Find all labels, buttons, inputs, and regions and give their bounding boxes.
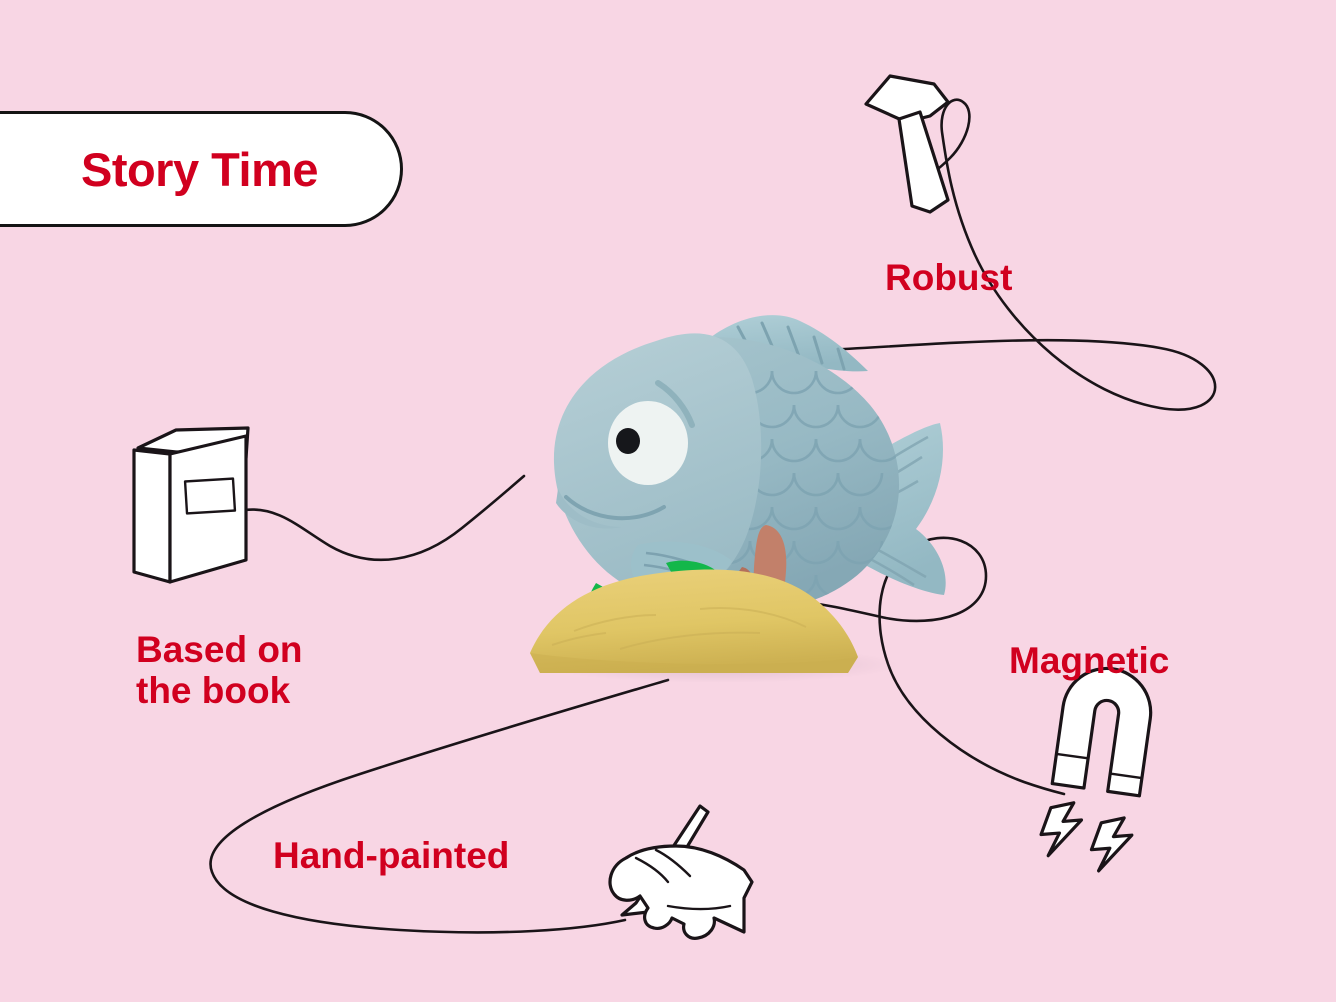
story-time-badge-label: Story Time: [81, 142, 318, 197]
feature-label-hand-painted: Hand-painted: [273, 835, 509, 876]
hammer-icon: [866, 76, 948, 212]
horseshoe-magnet-icon: [1037, 662, 1156, 875]
book-icon: [134, 428, 248, 582]
story-time-badge[interactable]: Story Time: [0, 111, 403, 227]
feature-label-magnetic: Magnetic: [1009, 640, 1169, 681]
feature-label-robust: Robust: [885, 257, 1012, 298]
hand-holding-brush-icon: [610, 806, 752, 938]
feature-label-based-on-the-book: Based on the book: [136, 629, 303, 712]
wire-hand-painted: [211, 680, 668, 932]
promo-graphic: Story Time Robust Based on the book Magn…: [0, 0, 1336, 1002]
fish-eye: [608, 401, 688, 485]
fish-figurine: [470, 275, 960, 685]
